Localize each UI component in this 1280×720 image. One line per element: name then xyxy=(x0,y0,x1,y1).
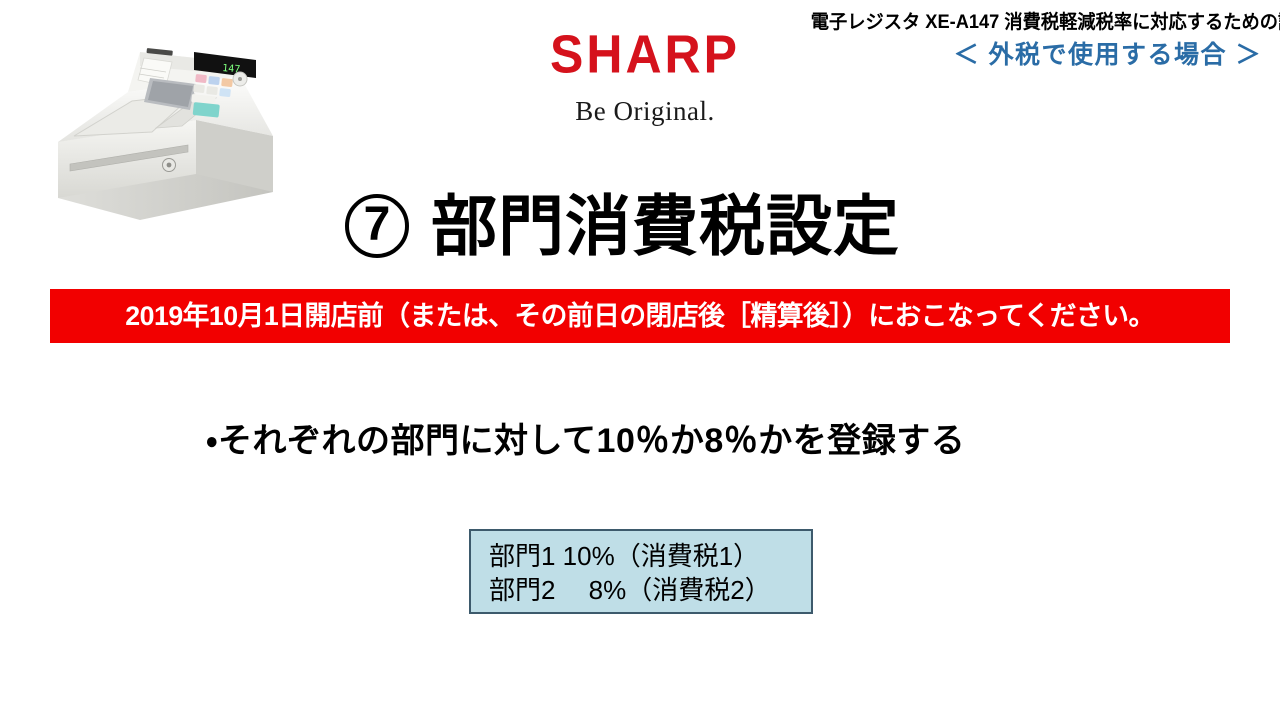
step-number-badge: 7 xyxy=(345,194,409,258)
notice-banner-text: 2019年10月1日開店前（または、その前日の閉店後［精算後］）におこなってくだ… xyxy=(125,301,1155,331)
sharp-tagline: Be Original. xyxy=(520,96,770,126)
cash-register-image: 147 xyxy=(44,24,294,229)
header-block: 電子レジスタ XE-A147 消費税軽減税率に対応するための設定 ＜ 外税で使用… xyxy=(792,10,1262,72)
department-rate-row-2: 部門2 8%（消費税2） xyxy=(489,573,811,607)
instruction-bullet: ・それぞれの部門に対して10％か8％かを登録する xyxy=(206,418,965,464)
cash-register-illustration: 147 xyxy=(44,24,294,229)
sharp-logo: SHARP Be Original. xyxy=(520,28,770,126)
page-title: 7 部門消費税設定 xyxy=(345,186,900,266)
department-rate-row-1: 部門1 10%（消費税1） xyxy=(489,539,811,573)
slide-canvas: 147 xyxy=(0,0,1280,720)
notice-banner: 2019年10月1日開店前（または、その前日の閉店後［精算後］）におこなってくだ… xyxy=(50,289,1230,343)
header-subject-line: 電子レジスタ XE-A147 消費税軽減税率に対応するための設定 xyxy=(811,10,1262,36)
sharp-wordmark: SHARP xyxy=(520,26,770,82)
header-mode-line: ＜ 外税で使用する場合 ＞ xyxy=(792,38,1262,72)
department-rate-box: 部門1 10%（消費税1） 部門2 8%（消費税2） xyxy=(469,529,813,614)
page-title-text: 部門消費税設定 xyxy=(431,189,900,263)
